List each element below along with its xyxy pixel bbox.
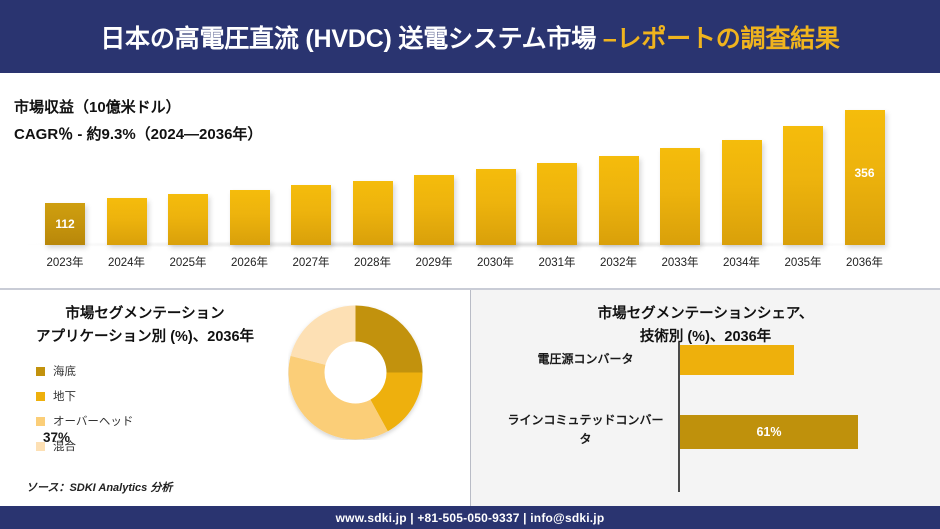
page-footer: www.sdki.jp | +81-505-050-9337 | info@sd… [0, 506, 940, 529]
bar-rect [537, 163, 577, 245]
bar-rect: 112 [45, 203, 85, 245]
legend-swatch-icon [36, 392, 45, 401]
legend-label: 地下 [53, 388, 76, 404]
application-donut-chart [288, 305, 423, 440]
technology-segmentation-panel: 市場セグメンテーションシェア、 技術別 (%)、2036年 電圧源コンバータライ… [471, 290, 940, 508]
page-title-accent: –レポートの調査結果 [603, 25, 840, 53]
application-segmentation-panel: 市場セグメンテーション アプリケーション別 (%)、2036年 海底地下オーバー… [0, 290, 471, 508]
bar-rect [230, 190, 270, 245]
bar-category-label: 2027年 [282, 254, 340, 270]
bar-category-label: 2033年 [651, 254, 709, 270]
bar-category-label: 2025年 [159, 254, 217, 270]
bar-category-label: 2023年 [36, 254, 94, 270]
footer-contact-text: www.sdki.jp | +81-505-050-9337 | info@sd… [336, 511, 605, 525]
bar-rect [291, 185, 331, 245]
source-note: ソース：SDKI Analytics 分析 [26, 479, 172, 495]
legend-item: 海底 [36, 360, 236, 382]
bar-value-label: 356 [845, 166, 885, 180]
bar-rect [353, 181, 393, 245]
bar-rect [599, 156, 639, 245]
market-revenue-chart: 市場収益（10億米ドル） CAGR％ - 約9.3%（2024―2036年） 1… [0, 73, 940, 288]
bar-rect [476, 169, 516, 245]
technology-bar-rect [680, 345, 794, 375]
bar-rect [783, 126, 823, 245]
legend-swatch-icon [36, 367, 45, 376]
infographic-page: 日本の高電圧直流 (HVDC) 送電システム市場 –レポートの調査結果 市場収益… [0, 0, 940, 529]
legend-label: 海底 [53, 363, 76, 379]
bar-rect [414, 175, 454, 245]
page-title: 日本の高電圧直流 (HVDC) 送電システム市場 –レポートの調査結果 [100, 19, 839, 55]
bar-rect [107, 198, 147, 245]
donut-legend: 海底地下オーバーヘッド混合 [36, 360, 236, 460]
technology-panel-title: 市場セグメンテーションシェア、 技術別 (%)、2036年 [471, 303, 940, 349]
bar-category-label: 2029年 [405, 254, 463, 270]
bar-category-label: 2030年 [467, 254, 525, 270]
technology-panel-title-line1: 市場セグメンテーションシェア、 [471, 303, 940, 326]
bar-category-label: 2035年 [774, 254, 832, 270]
bar-category-label: 2031年 [528, 254, 586, 270]
bar-category-label: 2034年 [713, 254, 771, 270]
legend-item: オーバーヘッド [36, 410, 236, 432]
donut-callout-label: 37% [43, 430, 70, 445]
bar-category-label: 2028年 [344, 254, 402, 270]
page-title-primary: 日本の高電圧直流 (HVDC) 送電システム市場 [100, 25, 603, 53]
technology-bar-rect: 61% [680, 415, 858, 449]
bar-series: 1122023年2024年2025年2026年2027年2028年2029年20… [0, 73, 940, 288]
bar-rect: 356 [845, 110, 885, 245]
application-panel-title: 市場セグメンテーション アプリケーション別 (%)、2036年 [0, 303, 290, 349]
bar-category-label: 2026年 [221, 254, 279, 270]
technology-bar-label: ラインコミュテッドコンバータ [503, 411, 668, 449]
technology-bar-value: 61% [680, 425, 858, 439]
donut-hole [325, 342, 387, 404]
bar-rect [168, 194, 208, 245]
legend-label: オーバーヘッド [53, 413, 133, 429]
application-panel-title-line2: アプリケーション別 (%)、2036年 [0, 326, 290, 349]
bar-rect [660, 148, 700, 245]
bar-rect [722, 140, 762, 245]
page-header: 日本の高電圧直流 (HVDC) 送電システム市場 –レポートの調査結果 [0, 0, 940, 73]
bar-category-label: 2024年 [98, 254, 156, 270]
bar-category-label: 2032年 [590, 254, 648, 270]
bar-value-label: 112 [45, 217, 85, 231]
bar-category-label: 2036年 [836, 254, 894, 270]
bottom-panels: 市場セグメンテーション アプリケーション別 (%)、2036年 海底地下オーバー… [0, 288, 940, 508]
legend-item: 地下 [36, 385, 236, 407]
technology-bar-label: 電圧源コンバータ [503, 350, 668, 369]
application-panel-title-line1: 市場セグメンテーション [0, 303, 290, 326]
donut-svg [288, 305, 423, 440]
legend-swatch-icon [36, 417, 45, 426]
